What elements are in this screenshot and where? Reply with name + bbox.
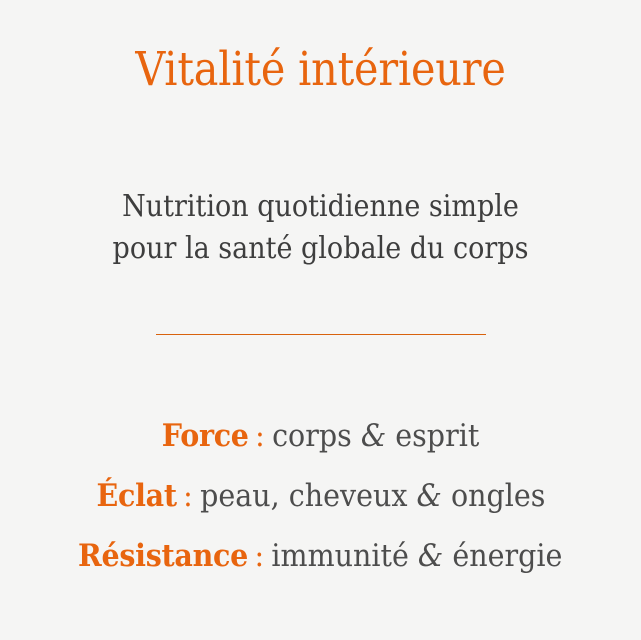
ampersand-glyph: & — [418, 538, 443, 574]
benefit-description-force: corps & esprit — [267, 418, 479, 454]
benefit-item-eclat: Éclat : peau, cheveux & ongles — [96, 466, 545, 526]
benefit-label-resistance: Résistance — [78, 538, 248, 574]
section-divider — [156, 334, 486, 335]
benefit-label-eclat: Éclat — [96, 478, 176, 514]
ampersand-glyph: & — [416, 478, 441, 514]
benefit-label-force: Force — [162, 418, 249, 454]
page-title: Vitalité intérieure — [38, 44, 602, 96]
benefits-list: Force : corps & esprit Éclat : peau, che… — [0, 406, 641, 586]
benefit-separator-resistance: : — [248, 538, 267, 574]
subtitle-line-1: Nutrition quotidienne simple — [32, 186, 609, 228]
subtitle: Nutrition quotidienne simple pour la san… — [32, 186, 609, 270]
promo-card: Vitalité intérieure Nutrition quotidienn… — [0, 0, 641, 640]
benefit-item-resistance: Résistance : immunité & énergie — [78, 526, 562, 586]
benefit-separator-eclat: : — [176, 478, 195, 514]
benefit-item-force: Force : corps & esprit — [162, 406, 479, 466]
benefit-separator-force: : — [249, 418, 268, 454]
benefit-description-eclat: peau, cheveux & ongles — [195, 478, 545, 514]
benefit-description-resistance: immunité & énergie — [267, 538, 563, 574]
ampersand-glyph: & — [361, 418, 386, 454]
subtitle-line-2: pour la santé globale du corps — [32, 228, 609, 270]
divider-container — [0, 334, 641, 335]
